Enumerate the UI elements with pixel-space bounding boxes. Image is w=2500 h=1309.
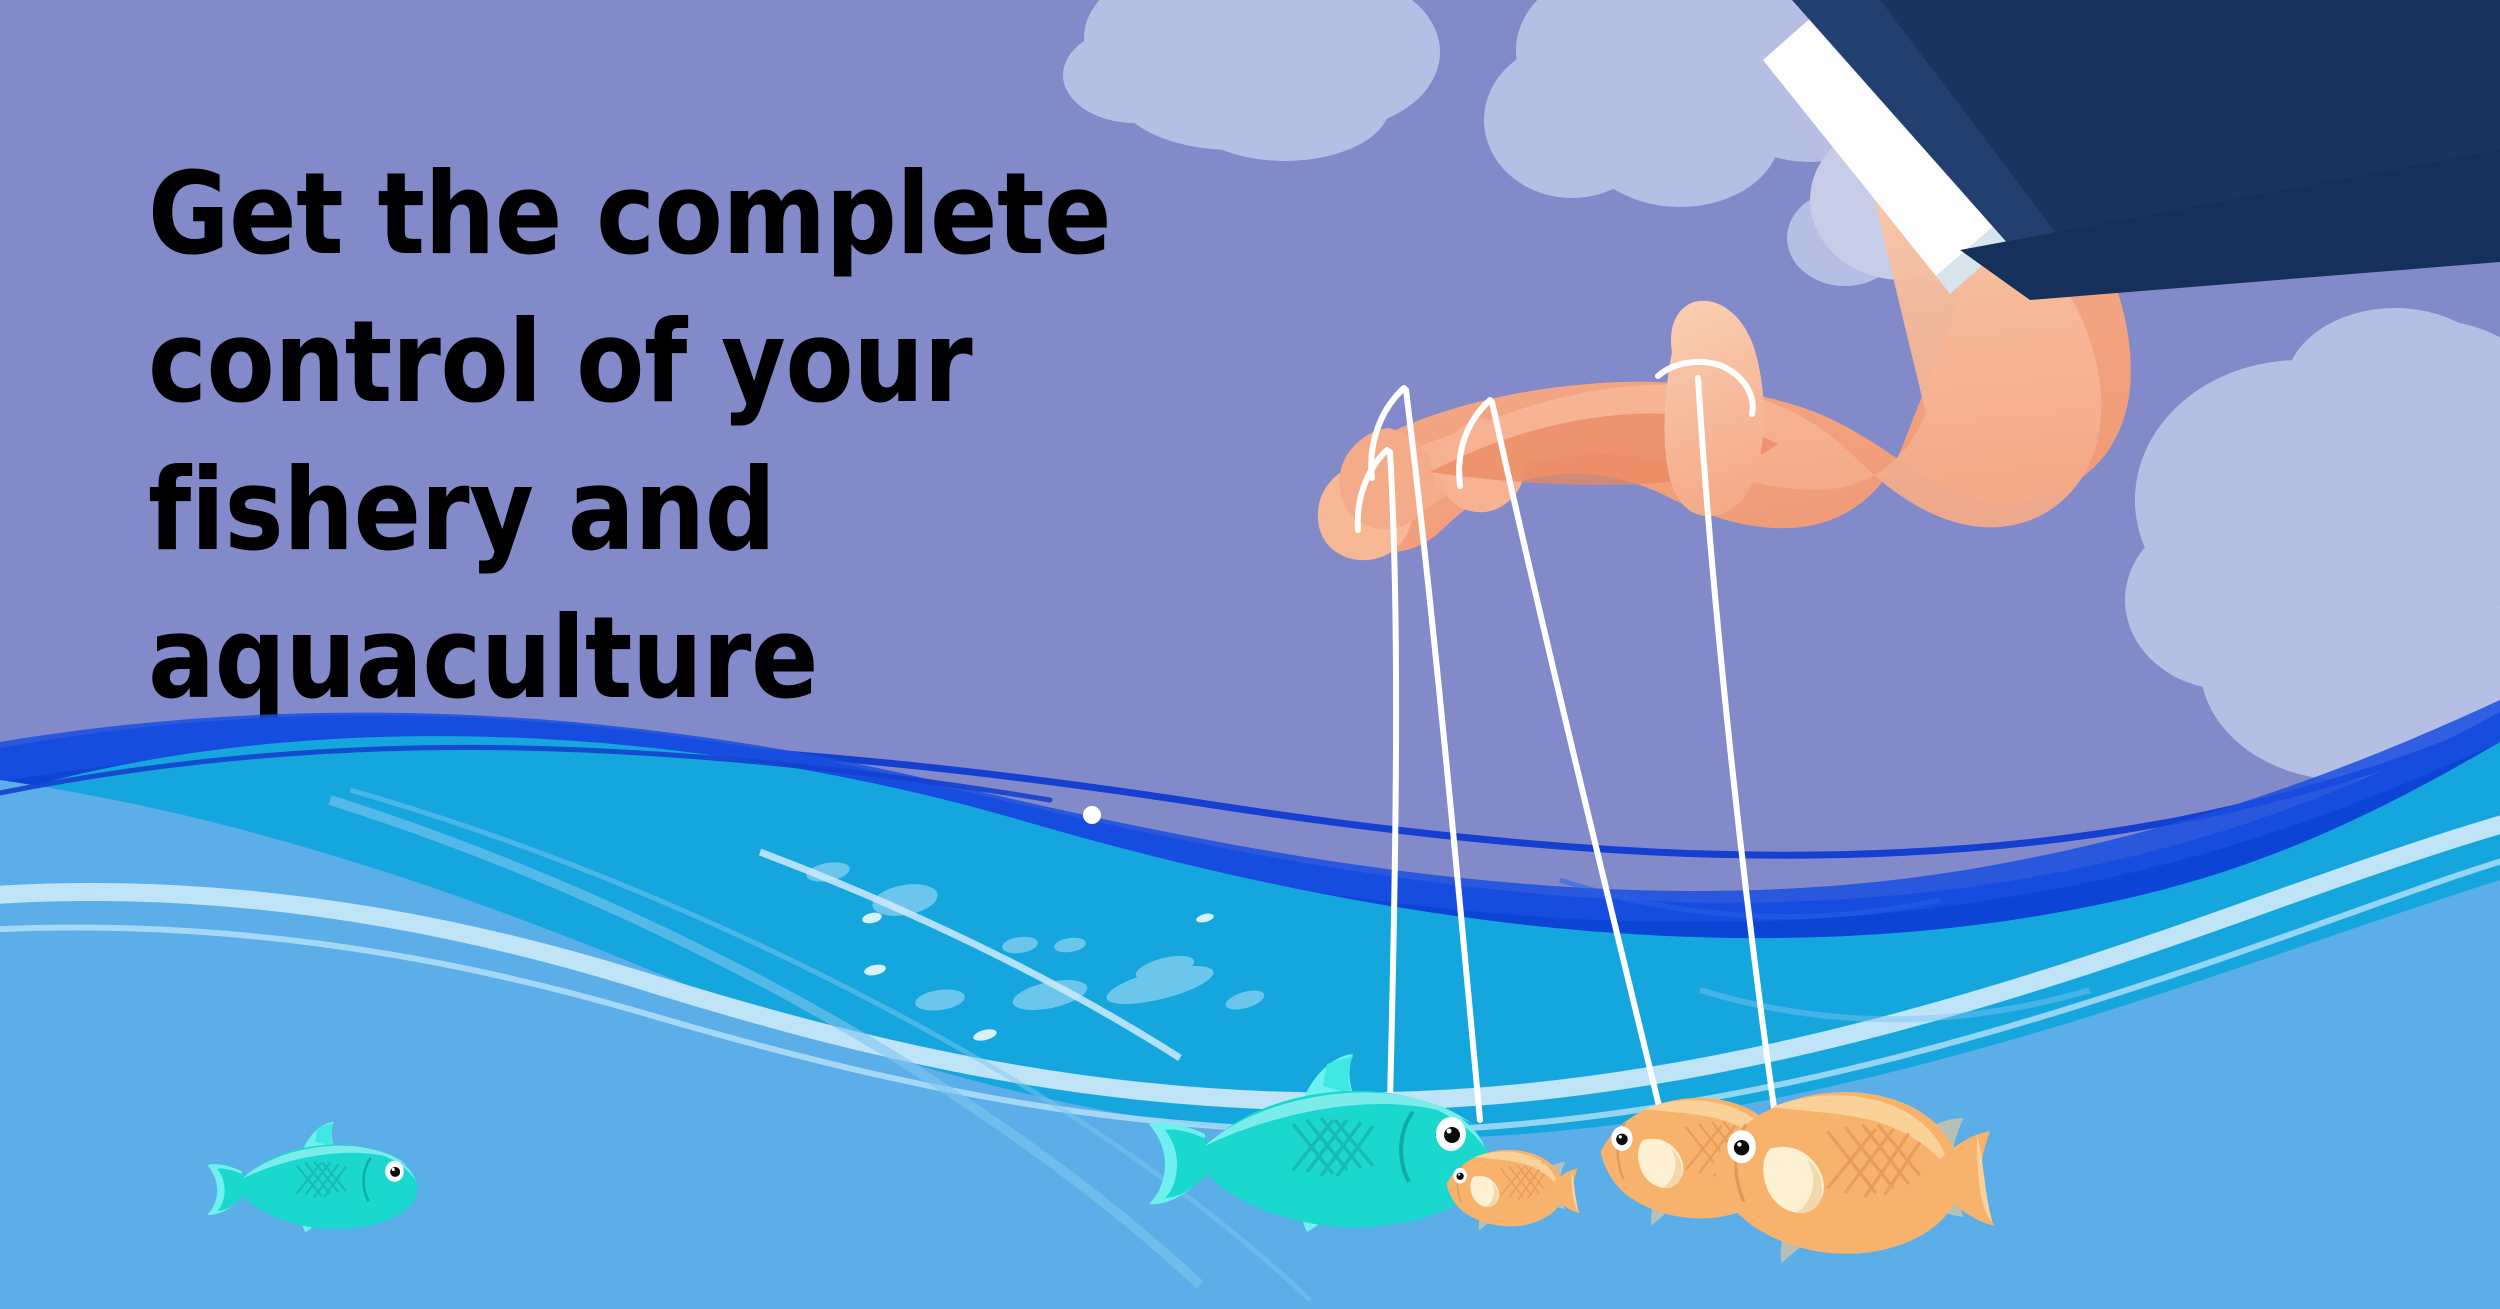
- fish-teal-free-swimming: [207, 1122, 417, 1232]
- fish-teal-on-string: [1149, 1054, 1488, 1232]
- banner-canvas: Get the complete control of your fishery…: [0, 0, 2500, 1309]
- fish-layer: [0, 0, 2500, 1309]
